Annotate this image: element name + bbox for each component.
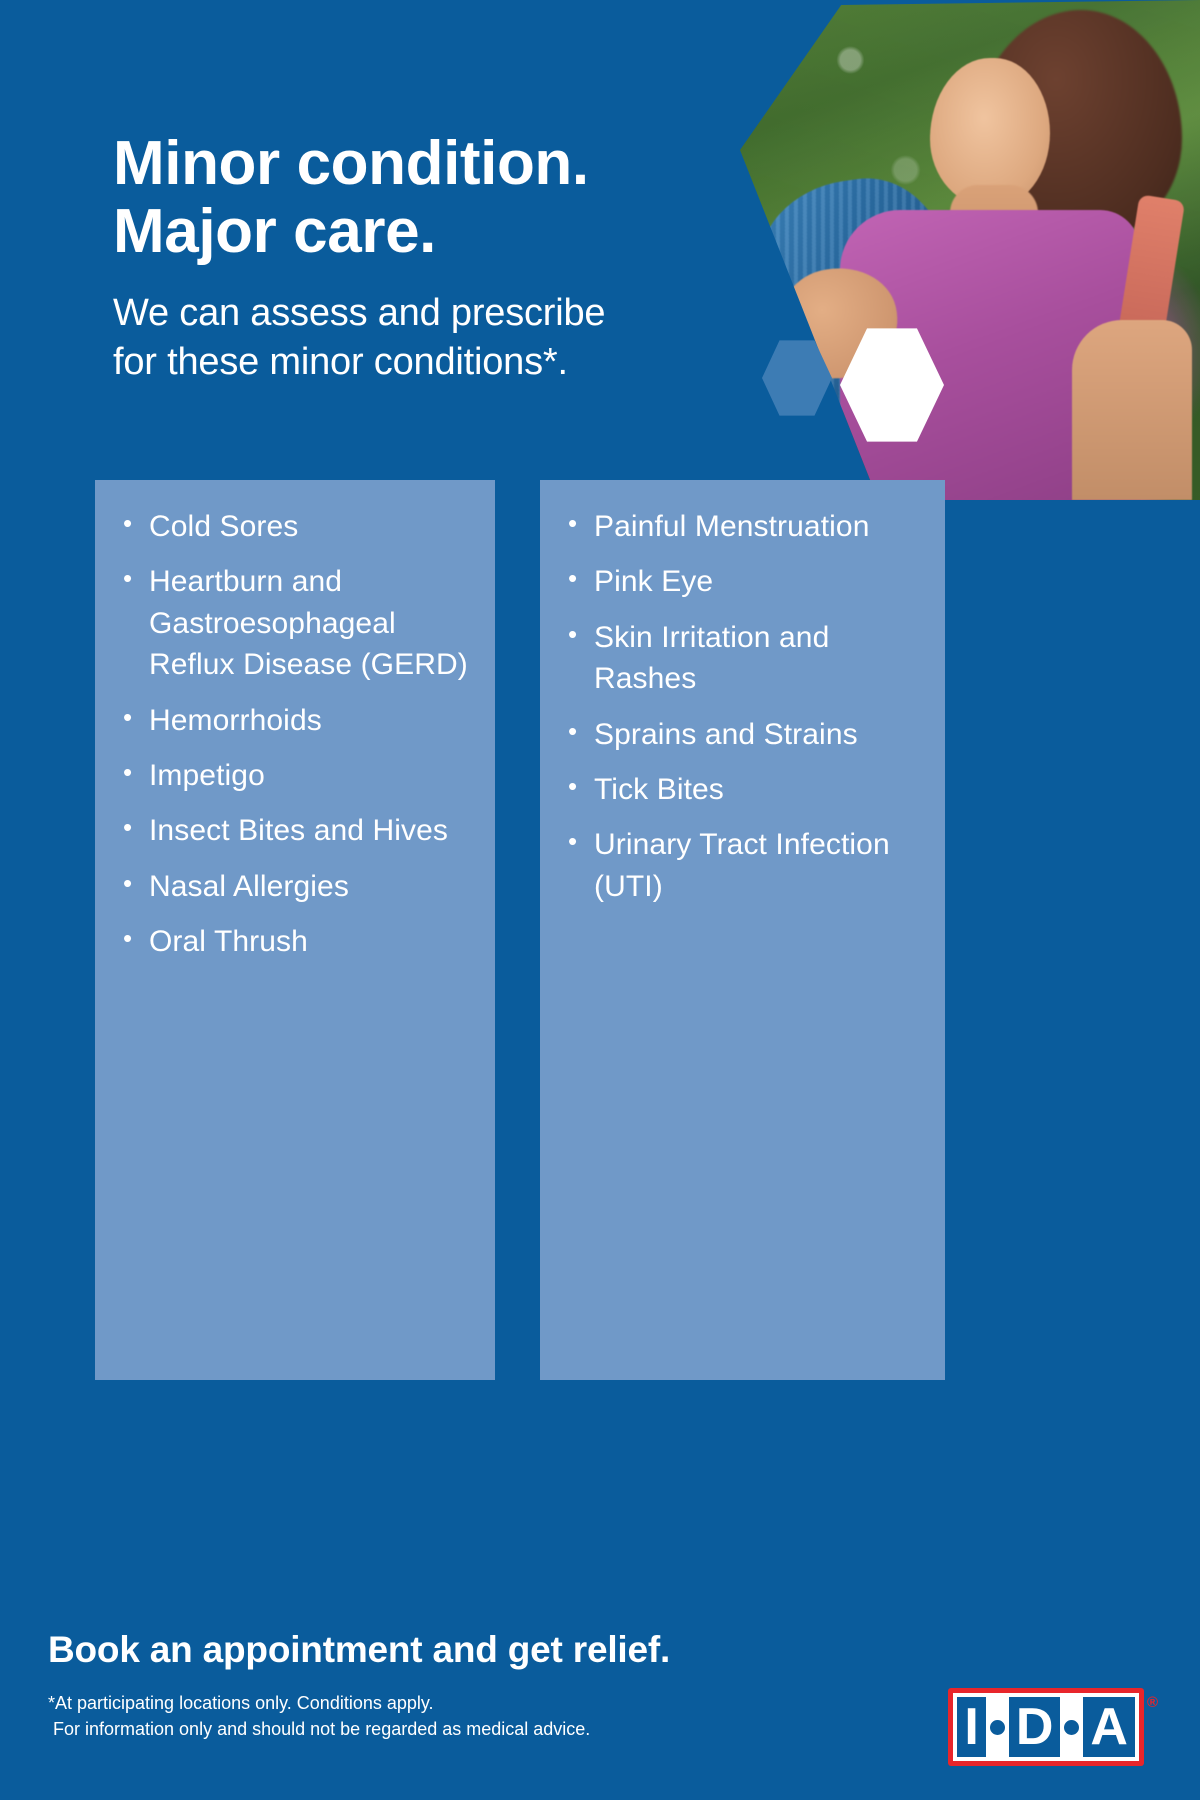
- disclaimer-line-2: For information only and should not be r…: [48, 1716, 590, 1742]
- list-item: Pink Eye: [562, 561, 923, 602]
- conditions-panel-left: Cold Sores Heartburn and Gastroesophagea…: [95, 480, 495, 1380]
- conditions-panels: Cold Sores Heartburn and Gastroesophagea…: [95, 480, 1105, 1380]
- poster-root: Minor condition. Major care. We can asse…: [0, 0, 1200, 1800]
- logo-dot-icon: [1064, 1720, 1079, 1735]
- list-item: Sprains and Strains: [562, 714, 923, 755]
- list-item: Nasal Allergies: [117, 866, 473, 907]
- list-item: Urinary Tract Infection (UTI): [562, 824, 923, 907]
- logo-letter-i: I: [957, 1697, 985, 1757]
- list-item: Cold Sores: [117, 506, 473, 547]
- headline-block: Minor condition. Major care. We can asse…: [113, 130, 693, 386]
- page-title: Minor condition. Major care.: [113, 130, 693, 265]
- photo-woman-arm: [1072, 320, 1192, 500]
- logo-dot-icon: [990, 1720, 1005, 1735]
- ida-logo-inner: I D A: [953, 1693, 1139, 1761]
- list-item: Heartburn and Gastroesophageal Reflux Di…: [117, 561, 473, 685]
- ida-logo: I D A ®: [948, 1688, 1158, 1766]
- conditions-panel-right: Painful Menstruation Pink Eye Skin Irrit…: [540, 480, 945, 1380]
- conditions-list-left: Cold Sores Heartburn and Gastroesophagea…: [117, 506, 473, 963]
- list-item: Impetigo: [117, 755, 473, 796]
- conditions-list-right: Painful Menstruation Pink Eye Skin Irrit…: [562, 506, 923, 907]
- list-item: Oral Thrush: [117, 921, 473, 962]
- ida-logo-mark: I D A: [948, 1688, 1144, 1766]
- list-item: Insect Bites and Hives: [117, 810, 473, 851]
- list-item: Tick Bites: [562, 769, 923, 810]
- list-item: Hemorrhoids: [117, 700, 473, 741]
- logo-letter-d: D: [1009, 1697, 1061, 1757]
- disclaimer-text: *At participating locations only. Condit…: [48, 1690, 590, 1742]
- disclaimer-line-1: *At participating locations only. Condit…: [48, 1690, 590, 1716]
- registered-trademark-icon: ®: [1147, 1688, 1158, 1711]
- hero-photo: [740, 0, 1200, 500]
- list-item: Painful Menstruation: [562, 506, 923, 547]
- list-item: Skin Irritation and Rashes: [562, 617, 923, 700]
- page-subtitle: We can assess and prescribe for these mi…: [113, 289, 693, 386]
- logo-letter-a: A: [1083, 1697, 1135, 1757]
- cta-heading: Book an appointment and get relief.: [48, 1629, 670, 1671]
